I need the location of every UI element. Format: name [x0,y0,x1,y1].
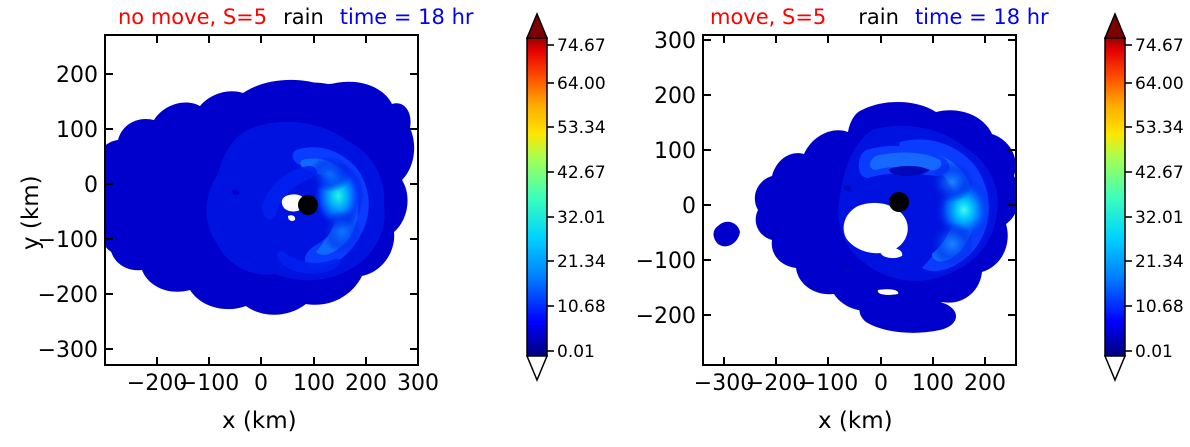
xtick-label: 100 [293,371,335,396]
colorbar-tick: 21.34 [1135,252,1184,272]
colorbar-over-arrow [1105,14,1125,38]
ytick-label: −300 [38,338,98,363]
ytick-label: 300 [654,29,696,54]
xtick-label: 200 [964,371,1006,396]
ytick-label: 0 [84,173,98,198]
colorbar-tick: 74.67 [557,36,606,56]
storm-center-marker [889,192,909,212]
colorbar-tick: 42.67 [1135,163,1184,183]
xtick-label: 300 [397,371,439,396]
colorbar-tick: 53.34 [1135,118,1184,138]
ytick-label: 200 [56,63,98,88]
xtick-label: 200 [345,371,387,396]
x-axis-ticklabels: −200 −100 0 100 200 300 [127,371,439,396]
colorbar-tick: 64.00 [557,74,606,94]
colorbar-tick: 74.67 [1135,36,1184,56]
colorbar-over-arrow [527,14,547,38]
ytick-label: 200 [654,84,696,109]
ytick-label: −100 [636,249,696,274]
xtick-label: 100 [912,371,954,396]
x-axis-label: x (km) [222,408,297,434]
colorbar-tick: 42.67 [557,163,606,183]
colorbar-tick: 10.68 [1135,297,1184,317]
ytick-label: −100 [38,228,98,253]
colorbar-under-arrow [527,356,547,380]
colorbar-ticklabels: 0.01 10.68 21.34 32.01 42.67 53.34 64.00… [557,36,606,362]
colorbar-tick: 32.01 [1135,208,1184,228]
panel-right: move, S=5raintime = 18 hr x (km) [600,0,1190,447]
colorbar-tick: 64.00 [1135,74,1184,94]
colorbar-ticklabels: 0.01 10.68 21.34 32.01 42.67 53.34 64.00… [1135,36,1184,362]
ytick-label: 100 [56,118,98,143]
right-colorbar: 0.01 10.68 21.34 32.01 42.67 53.34 64.00… [1090,0,1190,400]
xtick-label: 0 [874,371,888,396]
colorbar-gradient [1105,38,1125,356]
storm-center-marker [298,195,318,215]
xtick-label: −100 [798,371,858,396]
colorbar-tick: 21.34 [557,252,606,272]
colorbar-tick: 32.01 [557,208,606,228]
panel-left: no move, S=5raintime = 18 hr y (km) x (k… [0,0,610,447]
figure-root: no move, S=5raintime = 18 hr y (km) x (k… [0,0,1190,447]
colorbar-tick: 0.01 [557,342,595,362]
y-axis-ticklabels: 200 100 0 −100 −200 −300 [38,63,98,363]
colorbar-gradient [527,38,547,356]
x-axis-ticklabels: −300 −200 −100 0 100 200 [694,371,1006,396]
ytick-label: 0 [682,194,696,219]
xtick-label: −100 [179,371,239,396]
y-axis-ticklabels: 300 200 100 0 −100 −200 [636,29,696,329]
colorbar-tick: 0.01 [1135,342,1173,362]
ytick-label: 100 [654,139,696,164]
x-axis-label: x (km) [818,408,893,434]
colorbar-tick: 10.68 [557,297,606,317]
colorbar-under-arrow [1105,356,1125,380]
xtick-label: 0 [254,371,268,396]
ytick-label: −200 [38,283,98,308]
colorbar-tick: 53.34 [557,118,606,138]
ytick-label: −200 [636,304,696,329]
